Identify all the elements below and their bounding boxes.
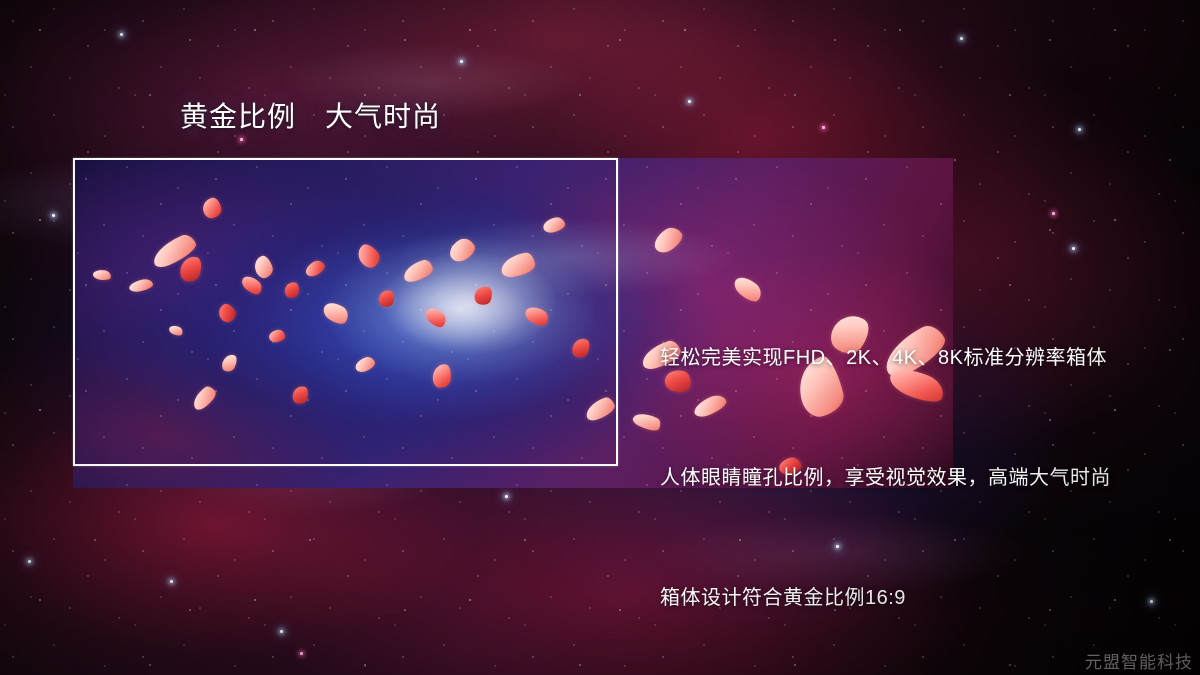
bright-star — [688, 100, 691, 103]
pink-star — [300, 652, 303, 655]
body-line-2: 人体眼睛瞳孔比例，享受视觉效果，高端大气时尚 — [660, 458, 1160, 498]
body-line-3: 箱体设计符合黄金比例16:9 — [660, 578, 1160, 618]
bright-star — [505, 495, 508, 498]
bright-star — [1072, 247, 1075, 250]
bright-star — [28, 560, 31, 563]
bright-star — [170, 580, 173, 583]
pink-star — [822, 126, 825, 129]
bright-star — [52, 214, 55, 217]
pink-star — [240, 138, 243, 141]
image-frame-border — [73, 158, 618, 466]
bright-star — [280, 630, 283, 633]
bright-star — [960, 37, 963, 40]
bright-star — [460, 60, 463, 63]
body-line-1: 轻松完美实现FHD、2K、4K、8K标准分辨率箱体 — [660, 338, 1160, 378]
pink-star — [1052, 212, 1055, 215]
presentation-slide: 黄金比例 大气时尚 轻松完美实现FHD、2K、4K、8K标准分辨率箱体 人体眼睛… — [0, 0, 1200, 675]
page-title: 黄金比例 大气时尚 — [180, 101, 441, 133]
body-copy: 轻松完美实现FHD、2K、4K、8K标准分辨率箱体 人体眼睛瞳孔比例，享受视觉效… — [660, 258, 1160, 675]
bright-star — [1078, 128, 1081, 131]
bright-star — [120, 33, 123, 36]
watermark: 元盟智能科技 — [1085, 648, 1193, 673]
